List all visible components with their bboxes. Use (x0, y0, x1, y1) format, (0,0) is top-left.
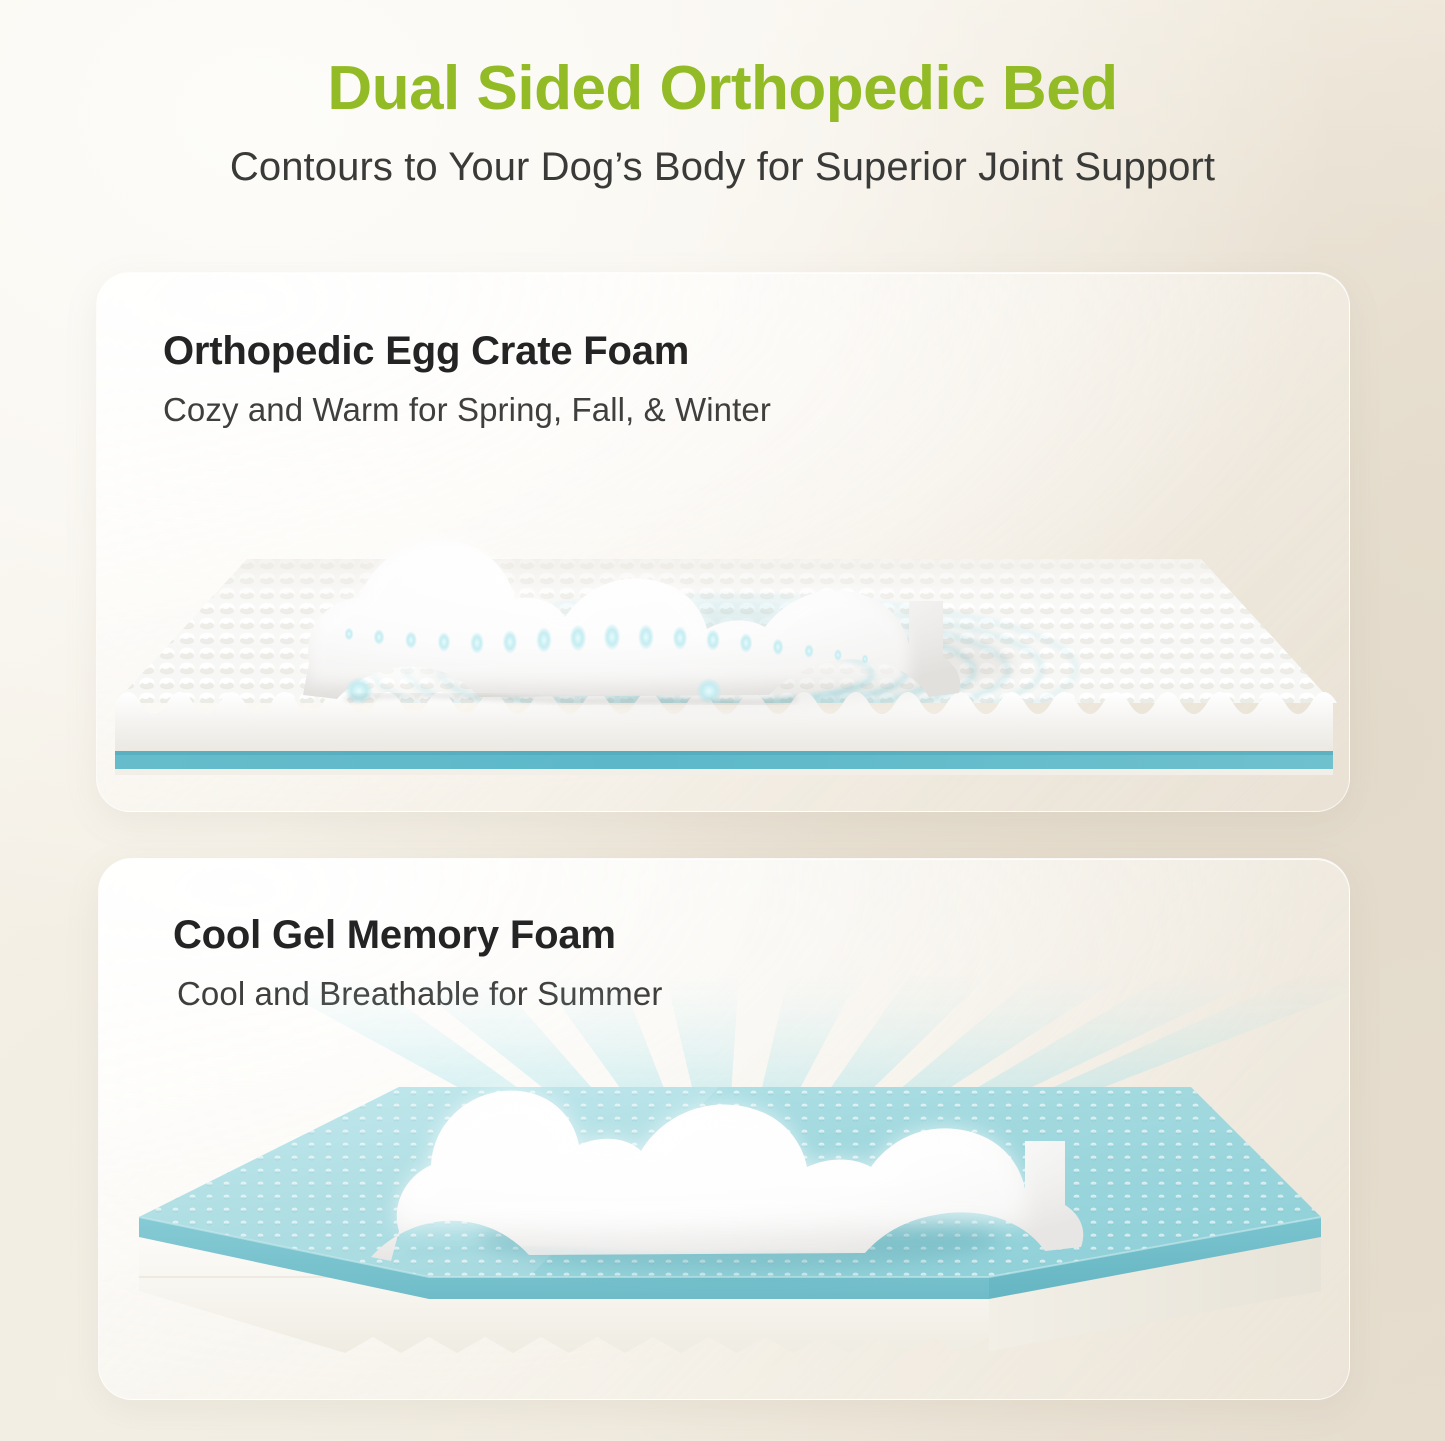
egg-crate-foam-svg (97, 451, 1349, 811)
cool-gel-foam-svg (99, 969, 1349, 1399)
card-subheading-egg-crate: Cozy and Warm for Spring, Fall, & Winter (163, 391, 771, 429)
card-heading-cool-gel: Cool Gel Memory Foam (173, 913, 616, 958)
page-title: Dual Sided Orthopedic Bed (0, 56, 1445, 121)
infographic-page: Dual Sided Orthopedic Bed Contours to Yo… (0, 0, 1445, 1441)
card-heading-egg-crate: Orthopedic Egg Crate Foam (163, 329, 689, 374)
card-orthopedic-egg-crate-foam: Orthopedic Egg Crate Foam Cozy and Warm … (96, 272, 1350, 812)
page-subtitle: Contours to Your Dog’s Body for Superior… (0, 145, 1445, 190)
teal-base-strip (115, 751, 1333, 775)
header: Dual Sided Orthopedic Bed Contours to Yo… (0, 56, 1445, 190)
illustration-egg-crate-foam (97, 451, 1349, 811)
illustration-cool-gel-foam (99, 969, 1349, 1399)
card-cool-gel-memory-foam: Cool Gel Memory Foam Cool and Breathable… (98, 858, 1350, 1400)
